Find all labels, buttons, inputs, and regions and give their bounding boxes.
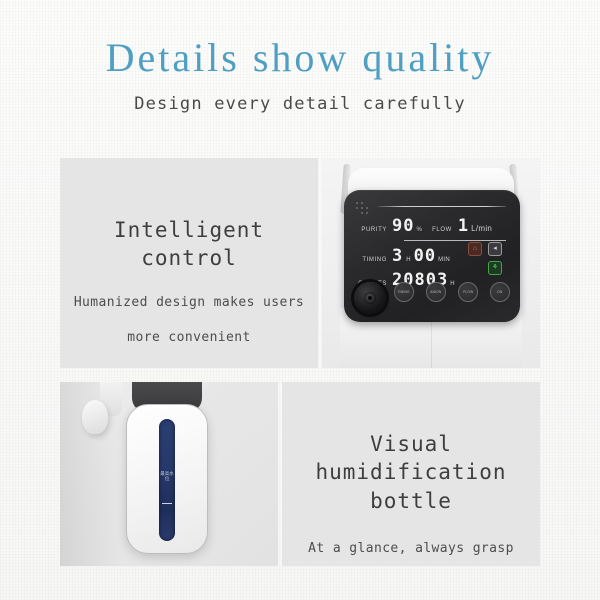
humidifier-bottle-photo: 最高水位	[60, 382, 278, 566]
panel-control-panel-photo: PURITY 90 % FLOW 1 L/min TIMING 3 H 00	[322, 158, 540, 368]
page-header: Details show quality Design every detail…	[0, 36, 600, 114]
timing-hours: 3	[392, 248, 403, 265]
humidification-bottle: 最高水位	[126, 404, 208, 554]
anion-status-icon: ⚘	[488, 261, 502, 275]
button-flow-label: FLOW	[463, 290, 473, 294]
oxygen-concentrator-photo: PURITY 90 % FLOW 1 L/min TIMING 3 H 00	[322, 158, 540, 368]
purity-value: 90	[392, 218, 414, 235]
water-level-window: 最高水位	[159, 419, 175, 541]
feature-title-intelligent-control: Intelligent control	[60, 216, 318, 273]
purity-label: PURITY	[358, 227, 392, 233]
panel-intelligent-control-text: Intelligent control Humanized design mak…	[60, 158, 318, 368]
button-flow[interactable]: FLOW	[458, 282, 478, 302]
timing-minute-unit: MIN	[438, 257, 450, 263]
feature-desc-line-1: Humanized design makes users	[60, 295, 318, 311]
panel-humidification-bottle-photo: 最高水位	[60, 382, 278, 566]
lcd-separator	[404, 240, 506, 241]
lcd-row-purity-flow: PURITY 90 % FLOW 1 L/min	[358, 218, 510, 242]
feature-title-humidification-line-1: Visual humidification	[282, 430, 540, 487]
speaker-dots-icon	[356, 202, 370, 214]
control-face: PURITY 90 % FLOW 1 L/min TIMING 3 H 00	[344, 190, 520, 322]
button-anion-label: ANION	[430, 290, 441, 294]
panel-humidification-text: Visual humidification bottle At a glance…	[282, 382, 540, 566]
power-icon	[364, 292, 376, 304]
button-on-label: ON	[497, 290, 502, 294]
feature-desc-line-2: more convenient	[60, 330, 318, 346]
timing-minutes: 00	[414, 248, 436, 265]
sound-status-icon: ◂	[488, 242, 502, 256]
timing-label: TIMING	[358, 257, 392, 263]
water-level-marks: 最高水位	[159, 471, 175, 481]
button-timing[interactable]: TIMING	[394, 282, 414, 302]
page-subtitle: Design every detail carefully	[0, 94, 600, 114]
button-timing-label: TIMING	[398, 290, 410, 294]
flow-unit: L/min	[471, 224, 492, 233]
flow-label: FLOW	[422, 227, 452, 233]
feature-title-humidification-line-2: bottle	[282, 487, 540, 515]
copy-block-humidification: Visual humidification bottle At a glance…	[282, 430, 540, 557]
timing-hour-unit: H	[406, 257, 410, 263]
button-on[interactable]: ON	[490, 282, 510, 302]
alarm-status-icon: ⌂	[468, 242, 482, 256]
panel-divider	[378, 206, 506, 207]
flow-value: 1	[458, 218, 469, 235]
water-level-tick	[162, 503, 172, 504]
machine-outlet-knob	[82, 400, 108, 434]
product-detail-page: Details show quality Design every detail…	[0, 0, 600, 600]
copy-block-intelligent-control: Intelligent control Humanized design mak…	[60, 216, 318, 346]
feature-desc-humidification: At a glance, always grasp	[282, 541, 540, 557]
page-title: Details show quality	[0, 36, 600, 80]
button-anion[interactable]: ANION	[426, 282, 446, 302]
power-knob[interactable]	[354, 282, 386, 314]
